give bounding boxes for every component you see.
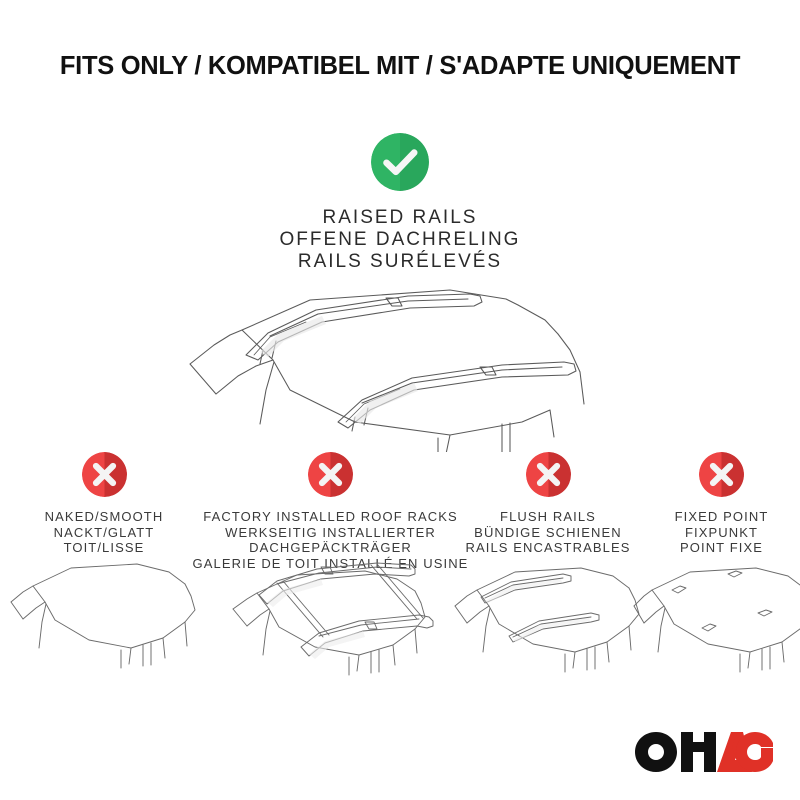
label-line-en: FACTORY INSTALLED ROOF RACKS bbox=[193, 509, 469, 525]
rejected-item-factory-roof-rack: FACTORY INSTALLED ROOF RACKS WERKSEITIG … bbox=[208, 452, 453, 702]
rejected-items-row: NAKED/SMOOTH NACKT/GLATT TOIT/LISSE bbox=[0, 452, 800, 702]
label-line-en: FLUSH RAILS bbox=[465, 509, 630, 525]
rejected-label-flush-rails: FLUSH RAILS BÜNDIGE SCHIENEN RAILS ENCAS… bbox=[465, 509, 630, 556]
car-roof-naked-smooth-illustration bbox=[9, 552, 199, 682]
label-line-en: FIXED POINT bbox=[675, 509, 769, 525]
approved-label-line-fr: RAILS SURÉLEVÉS bbox=[280, 251, 521, 273]
approved-label-line-de: OFFENE DACHRELING bbox=[280, 229, 521, 251]
car-roof-with-raised-rails-illustration bbox=[150, 272, 670, 452]
label-line-de: FIXPUNKT bbox=[675, 525, 769, 541]
label-line-en: NAKED/SMOOTH bbox=[45, 509, 164, 525]
rejected-label-naked-smooth: NAKED/SMOOTH NACKT/GLATT TOIT/LISSE bbox=[45, 509, 164, 556]
omac-logo bbox=[634, 730, 774, 774]
rejected-item-fixed-point: FIXED POINT FIXPUNKT POINT FIXE bbox=[643, 452, 800, 702]
car-roof-factory-roof-rack-illustration bbox=[225, 547, 437, 682]
x-circle-icon bbox=[699, 452, 744, 497]
approved-item: RAISED RAILS OFFENE DACHRELING RAILS SUR… bbox=[0, 133, 800, 273]
rejected-item-flush-rails: FLUSH RAILS BÜNDIGE SCHIENEN RAILS ENCAS… bbox=[453, 452, 643, 702]
check-circle-icon bbox=[371, 133, 429, 191]
compatibility-infographic: FITS ONLY / KOMPATIBEL MIT / S'ADAPTE UN… bbox=[0, 0, 800, 800]
label-line-de-1: WERKSEITIG INSTALLIERTER bbox=[193, 525, 469, 541]
label-line-de: BÜNDIGE SCHIENEN bbox=[465, 525, 630, 541]
label-line-de: NACKT/GLATT bbox=[45, 525, 164, 541]
x-circle-icon bbox=[526, 452, 571, 497]
car-roof-flush-rails-illustration bbox=[453, 552, 643, 687]
approved-label: RAISED RAILS OFFENE DACHRELING RAILS SUR… bbox=[280, 207, 521, 273]
x-circle-icon bbox=[308, 452, 353, 497]
rejected-label-fixed-point: FIXED POINT FIXPUNKT POINT FIXE bbox=[675, 509, 769, 556]
x-circle-icon bbox=[82, 452, 127, 497]
approved-label-line-en: RAISED RAILS bbox=[280, 207, 521, 229]
rejected-item-naked-smooth: NAKED/SMOOTH NACKT/GLATT TOIT/LISSE bbox=[0, 452, 208, 702]
page-title: FITS ONLY / KOMPATIBEL MIT / S'ADAPTE UN… bbox=[0, 52, 800, 81]
car-roof-fixed-point-illustration bbox=[632, 552, 800, 687]
